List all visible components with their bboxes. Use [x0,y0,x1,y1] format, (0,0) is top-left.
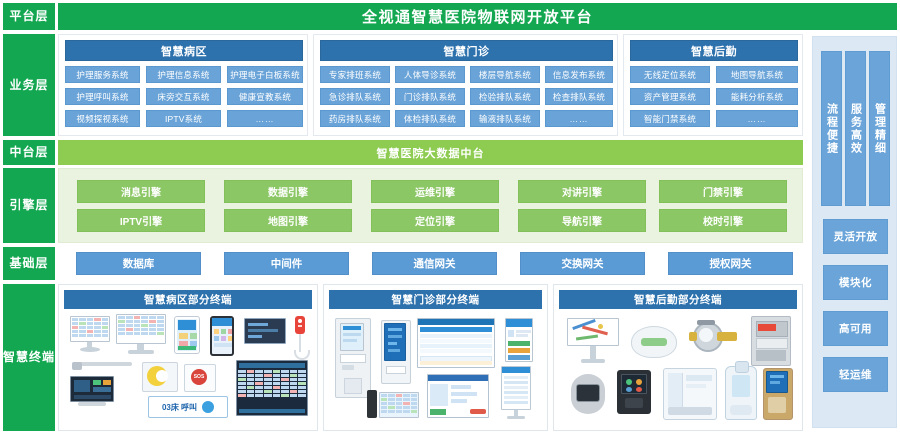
side-chip-2[interactable]: 模块化 [823,265,888,300]
layer-label-platform: 平台层 [3,3,55,30]
device-smartphone [210,316,234,356]
device-sos-button: SOS [184,364,214,390]
chip-logi-5[interactable]: 智能门禁系统 [630,110,710,127]
device-wireless-ap-egg [631,326,677,358]
base-chip-comm-gateway[interactable]: 通信网关 [372,252,497,275]
terminal-images-ward: SOS 03床 呼叫 [64,312,312,426]
chip-ward-7[interactable]: 视频探视系统 [65,110,140,127]
device-call-pear-handset [292,316,308,362]
device-desk-queue-terminal [367,388,419,420]
group-title-ward: 智慧病区 [65,40,303,61]
engine-chip-10[interactable]: 校时引擎 [659,209,787,232]
engine-chip-8[interactable]: 定位引擎 [371,209,499,232]
base-chip-middleware[interactable]: 中间件 [224,252,349,275]
terminal-panel-clinic: 智慧门诊部分终端 [323,284,548,431]
chip-ward-9[interactable]: …… [227,110,303,127]
side-vertical-chip-3[interactable]: 管理精细 [869,51,890,206]
device-large-info-board [236,360,308,416]
engine-chip-6[interactable]: IPTV引擎 [77,209,205,232]
chip-ward-2[interactable]: 护理信息系统 [146,66,221,83]
engine-chip-1[interactable]: 消息引擎 [77,180,205,203]
chip-ward-8[interactable]: IPTV系统 [146,110,221,127]
device-bedside-screen-wall [244,318,286,348]
chip-ward-1[interactable]: 护理服务系统 [65,66,140,83]
device-air-purifier [663,368,717,420]
chip-ward-3[interactable]: 护理电子白板系统 [227,66,303,83]
device-door-display-text: 03床 呼叫 [162,402,197,413]
device-door-display: 03床 呼叫 [148,396,228,418]
chip-clinic-6[interactable]: 门诊排队系统 [395,88,465,105]
side-chip-3[interactable]: 高可用 [823,311,888,346]
side-benefits-panel: 流程便捷 服务高效 管理精细 灵活开放 模块化 高可用 轻运维 [812,36,897,428]
engine-chip-2[interactable]: 数据引擎 [224,180,352,203]
device-nurse-monitor-large [116,314,166,354]
engine-chip-5[interactable]: 门禁引擎 [659,180,787,203]
business-group-clinic: 智慧门诊 专家排班系统 人体导诊系统 楼层导航系统 信息发布系统 急诊排队系统 … [313,34,618,136]
device-corridor-lamp [142,362,176,390]
business-group-ward: 智慧病区 护理服务系统 护理信息系统 护理电子白板系统 护理呼叫系统 床旁交互系… [58,34,308,136]
layer-label-engine: 引擎层 [3,168,55,243]
base-chip-database[interactable]: 数据库 [76,252,201,275]
device-door-plate-display [505,318,533,362]
device-map-navigation-kiosk [567,318,619,364]
device-smart-electric-meter [751,316,791,366]
engine-chip-4[interactable]: 对讲引擎 [518,180,646,203]
terminal-images-logistics [559,312,797,426]
terminal-title-ward: 智慧病区部分终端 [64,290,312,309]
device-smart-water-meter [687,320,739,360]
base-chip-switch-gateway[interactable]: 交换网关 [520,252,645,275]
engine-panel: 消息引擎 数据引擎 运维引擎 对讲引擎 门禁引擎 IPTV引擎 地图引擎 定位引… [58,168,803,243]
device-access-control-panel [763,368,791,418]
terminal-panel-logistics: 智慧后勤部分终端 [553,284,803,431]
device-queue-ticket-dispenser [381,320,409,382]
side-vertical-chip-2[interactable]: 服务高效 [845,51,866,206]
engine-chip-7[interactable]: 地图引擎 [224,209,352,232]
chip-clinic-7[interactable]: 检验排队系统 [470,88,540,105]
chip-clinic-3[interactable]: 楼层导航系统 [470,66,540,83]
device-self-service-kiosk [335,318,369,396]
business-group-logistics: 智慧后勤 无线定位系统 地图导航系统 资产管理系统 能耗分析系统 智能门禁系统 … [623,34,803,136]
chip-clinic-10[interactable]: 体检排队系统 [395,110,465,127]
device-guidance-tablet [427,374,489,418]
device-intercom-panel [617,370,651,418]
door-display-indicator [202,401,214,413]
chip-clinic-1[interactable]: 专家排班系统 [320,66,390,83]
device-bedside-arm-terminal [68,360,132,408]
chip-clinic-9[interactable]: 药房排队系统 [320,110,390,127]
layer-label-middle: 中台层 [3,140,55,165]
chip-ward-4[interactable]: 护理呼叫系统 [65,88,140,105]
chip-clinic-4[interactable]: 信息发布系统 [545,66,613,83]
chip-clinic-5[interactable]: 急诊排队系统 [320,88,390,105]
terminal-images-clinic [329,312,542,426]
device-bedside-tablet-vertical [174,316,200,354]
device-nurse-monitor-small [70,316,110,352]
chip-logi-1[interactable]: 无线定位系统 [630,66,710,83]
platform-title-bar: 全视通智慧医院物联网开放平台 [58,3,897,30]
side-chip-1[interactable]: 灵活开放 [823,219,888,254]
terminal-title-clinic: 智慧门诊部分终端 [329,290,542,309]
layer-label-business: 业务层 [3,34,55,136]
device-smart-watch [567,372,609,416]
chip-clinic-2[interactable]: 人体导诊系统 [395,66,465,83]
terminal-panel-ward: 智慧病区部分终端 [58,284,318,431]
layer-label-base: 基础层 [3,247,55,280]
device-disinfection-robot [725,366,757,420]
side-vertical-chip-1[interactable]: 流程便捷 [821,51,842,206]
base-chip-auth-gateway[interactable]: 授权网关 [668,252,793,275]
chip-clinic-11[interactable]: 输液排队系统 [470,110,540,127]
layer-label-terminals: 智慧终端 [3,284,55,431]
middle-platform-bar: 智慧医院大数据中台 [58,140,803,165]
architecture-diagram: 平台层 全视通智慧医院物联网开放平台 业务层 智慧病区 护理服务系统 护理信息系… [0,0,900,434]
chip-ward-6[interactable]: 健康宣教系统 [227,88,303,105]
engine-chip-9[interactable]: 导航引擎 [518,209,646,232]
side-chip-4[interactable]: 轻运维 [823,357,888,392]
chip-logi-3[interactable]: 资产管理系统 [630,88,710,105]
group-title-logistics: 智慧后勤 [630,40,798,61]
terminal-title-logistics: 智慧后勤部分终端 [559,290,797,309]
chip-logi-2[interactable]: 地图导航系统 [716,66,798,83]
chip-logi-4[interactable]: 能耗分析系统 [716,88,798,105]
chip-logi-6[interactable]: …… [716,110,798,127]
device-clinic-info-display [417,318,495,368]
chip-ward-5[interactable]: 床旁交互系统 [146,88,221,105]
chip-clinic-12[interactable]: …… [545,110,613,127]
group-title-clinic: 智慧门诊 [320,40,613,61]
chip-clinic-8[interactable]: 检查排队系统 [545,88,613,105]
device-standing-schedule-board [499,366,533,420]
engine-chip-3[interactable]: 运维引擎 [371,180,499,203]
